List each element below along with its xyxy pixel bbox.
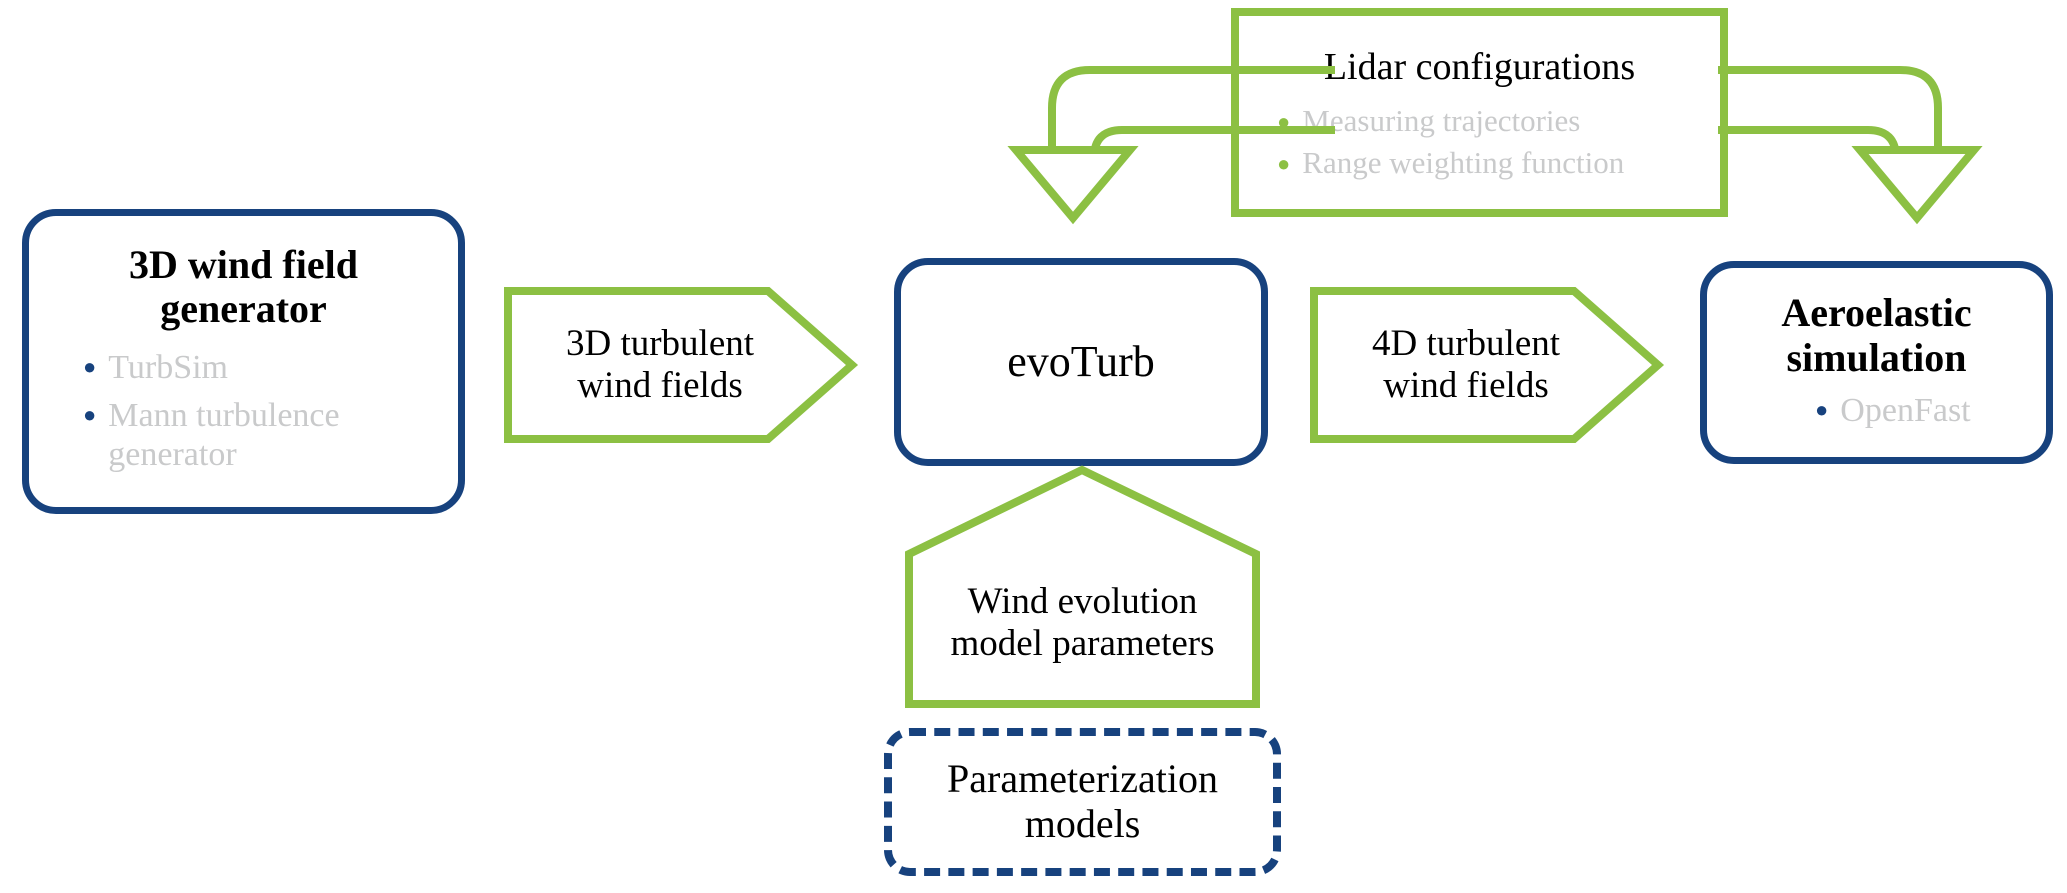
aeroelastic-simulation-bullets: ● OpenFast [1729, 391, 2067, 430]
flow-wind-evolution-parameters-shape [905, 466, 1260, 708]
parameterization-models-title: Parameterization models [947, 757, 1218, 847]
flow-4d-wind-fields: 4D turbulent wind fields [1309, 286, 1663, 444]
wind-field-generator-bullets: ● TurbSim ● Mann turbulence generator [55, 348, 460, 474]
list-item: ● Range weighting function [1277, 145, 1707, 181]
evoturb-title: evoTurb [1007, 337, 1155, 386]
aeroelastic-simulation-box: Aeroelastic simulation ● OpenFast [1700, 261, 2053, 464]
connector-lidar-to-evoturb [1010, 60, 1340, 235]
flow-4d-wind-fields-shape [1309, 286, 1663, 444]
list-item: ● OpenFast [1815, 391, 2067, 430]
aeroelastic-simulation-title: Aeroelastic simulation [1729, 291, 2024, 381]
list-item: ● Measuring trajectories [1277, 103, 1707, 139]
flow-3d-wind-fields-shape [503, 286, 857, 444]
diagram-canvas: Lidar configurations ● Measuring traject… [0, 0, 2067, 893]
evoturb-box: evoTurb [894, 258, 1268, 466]
parameterization-models-box: Parameterization models [884, 728, 1281, 876]
connector-lidar-to-evoturb-path [1010, 60, 1340, 235]
list-item: ● TurbSim [83, 348, 460, 387]
list-item: ● Mann turbulence generator [83, 396, 460, 475]
bullet-dot-icon: ● [83, 356, 96, 378]
lidar-configurations-bullets: ● Measuring trajectories ● Range weighti… [1277, 103, 1707, 181]
connector-lidar-to-aeroelastic [1700, 60, 1990, 235]
flow-3d-wind-fields: 3D turbulent wind fields [503, 286, 857, 444]
wind-field-generator-box: 3D wind field generator ● TurbSim ● Mann… [22, 209, 465, 514]
bullet-dot-icon: ● [1815, 399, 1828, 421]
bullet-dot-icon: ● [83, 404, 96, 426]
wind-field-generator-title: 3D wind field generator [55, 243, 432, 333]
flow-wind-evolution-parameters: Wind evolution model parameters [905, 466, 1260, 708]
connector-lidar-to-aeroelastic-path [1700, 60, 1990, 235]
